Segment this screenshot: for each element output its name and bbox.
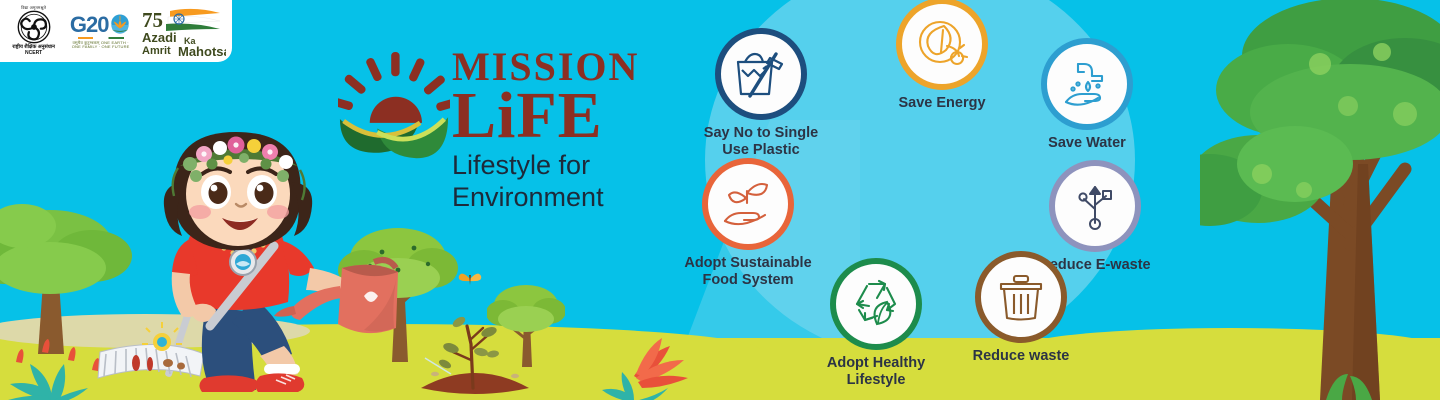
leaf-plug-bulb-icon — [913, 16, 971, 72]
azadi-mahotsav-mark: 75 Azadi Ka Amrit Mahotsav — [140, 5, 226, 57]
pillar-caption: Adopt Sustainable Food System — [653, 255, 843, 288]
brand-line-life: LiFE — [452, 86, 639, 147]
girl-planting-illustration — [78, 120, 408, 400]
butterfly-icon — [457, 268, 483, 288]
caption-line-1: Reduce waste — [973, 348, 1070, 364]
pillar-adopt-sustainable-food-system[interactable]: Adopt Sustainable Food System — [653, 158, 843, 288]
tree-canopy-icon — [1200, 0, 1440, 226]
caption-line-1: Save Water — [1048, 135, 1126, 151]
large-tree-illustration — [1200, 0, 1440, 400]
plastic-bag-crossed-icon — [732, 46, 790, 102]
pillar-say-no-to-single-use-plastic[interactable]: Say No to Single Use Plastic — [666, 28, 856, 158]
tap-hand-water-drop-icon — [1058, 56, 1116, 112]
pillar-save-water[interactable]: Save Water — [992, 38, 1182, 152]
azadi-75-text: 75 — [142, 8, 163, 32]
bird-of-paradise-flower-illustration — [600, 336, 690, 400]
save-energy-bubble — [896, 0, 988, 90]
pillar-caption: Save Water — [992, 135, 1182, 152]
mahotsav-word: Mahotsav — [178, 44, 226, 57]
azadi-word: Azadi — [142, 30, 177, 45]
g20-tagline: वसुधैव कुटुम्बकम् ONE EARTH · ONE FAMILY… — [67, 41, 134, 49]
g20-logo[interactable]: G20 वसुधैव कुटुम्बकम् ONE EARTH · ONE FA… — [67, 14, 134, 49]
g20-tricolor-bar — [78, 37, 124, 39]
ncert-abbreviation: NCERT — [25, 51, 42, 57]
hand-sprout-icon — [719, 177, 777, 231]
caption-line-2: Food System — [702, 272, 793, 288]
adopt-sustainable-food-system-bubble — [702, 158, 794, 250]
plastic-bag-crossed-bubble — [715, 28, 807, 120]
save-water-bubble — [1041, 38, 1133, 130]
brand-wordmark: MISSION LiFE Lifestyle for Environment — [452, 48, 639, 212]
caption-line-1: Adopt Sustainable — [684, 255, 811, 271]
caption-line-2: Use Plastic — [722, 142, 799, 158]
azadi-ka-amrit-mahotsav-logo[interactable]: 75 Azadi Ka Amrit Mahotsav — [140, 5, 226, 57]
caption-line-1: Say No to Single — [704, 125, 818, 141]
reduce-e-waste-bubble — [1049, 160, 1141, 252]
caption-line-1: Adopt Healthy — [827, 355, 925, 371]
ncert-logo[interactable]: विद्या अमृतमश्नुते राष्ट्रीय शैक्षिक अनु… — [6, 6, 61, 57]
sun-disc-icon — [370, 97, 422, 123]
reduce-waste-bubble — [975, 251, 1067, 343]
amrit-word: Amrit — [142, 45, 171, 57]
rake-icon — [98, 307, 204, 378]
tricolor-flag-icon — [166, 9, 220, 31]
adopt-healthy-lifestyle-bubble — [830, 258, 922, 350]
partner-logos-panel: विद्या अमृतमश्नुते राष्ट्रीय शैक्षिक अनु… — [0, 0, 232, 62]
pillar-caption: Say No to Single Use Plastic — [666, 125, 856, 158]
caption-line-2: Lifestyle — [847, 372, 906, 388]
pillar-caption: Adopt Healthy Lifestyle — [781, 355, 971, 388]
trash-bin-icon — [993, 270, 1049, 324]
usb-symbol-icon — [1068, 179, 1122, 233]
sapling-in-soil-illustration — [415, 296, 535, 396]
ncert-emblem-icon — [17, 10, 51, 44]
mission-life-logo-mark — [338, 52, 450, 162]
caption-line-1: Save Energy — [898, 95, 985, 111]
mission-life-banner: MISSION LiFE Lifestyle for Environment S… — [0, 0, 1440, 400]
brand-tagline-line1: Lifestyle for — [452, 151, 639, 180]
g20-label: G20 — [70, 14, 109, 36]
recycle-leaf-icon — [847, 276, 905, 332]
brand-tagline-line2: Environment — [452, 183, 639, 212]
g20-lotus-icon — [109, 14, 131, 36]
